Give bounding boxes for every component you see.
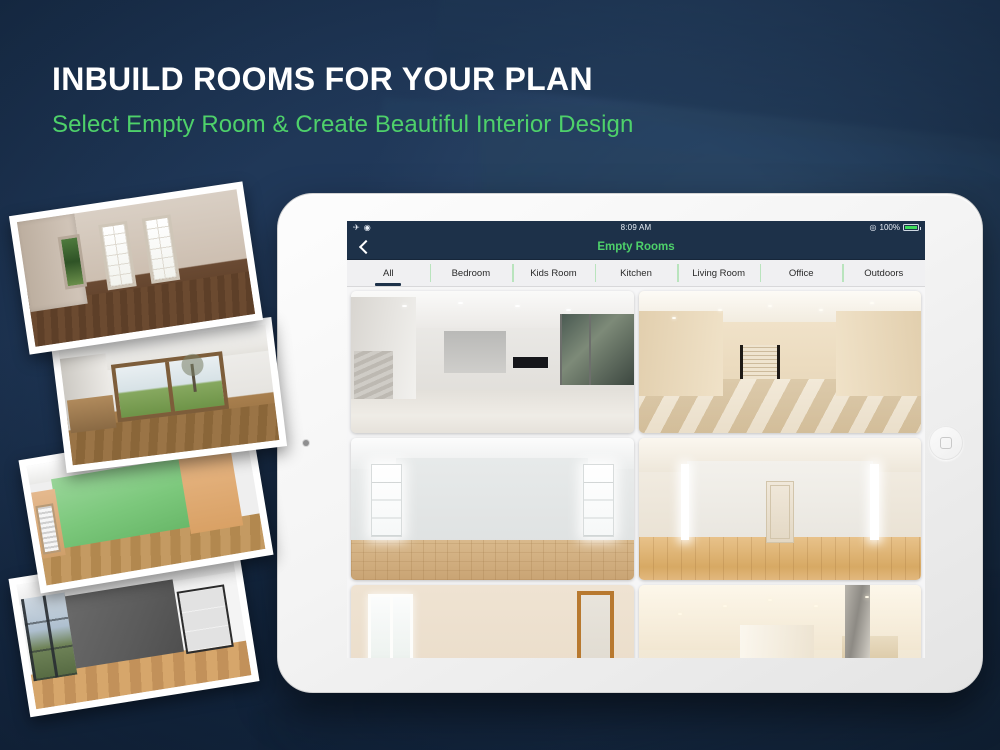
room-photo [17,189,255,346]
room-card-cream-window-door[interactable] [351,585,634,658]
window-wall [560,314,633,385]
navigation-bar: Empty Rooms [347,234,925,260]
tab-all[interactable]: All [347,260,430,286]
tab-office[interactable]: Office [760,260,843,286]
back-button[interactable] [355,238,373,256]
battery-icon [903,224,919,231]
status-bar: ✈ ◉ 8:09 AM ◎ 100% [347,221,925,234]
center-wall [740,625,813,658]
tab-outdoors[interactable]: Outdoors [842,260,925,286]
rotation-lock-icon: ◎ [870,223,877,232]
hallway-alcove [444,331,506,374]
window [368,594,413,658]
room-grid[interactable] [347,287,925,658]
front-camera-icon [303,440,309,446]
status-bar-time: 8:09 AM [347,223,925,232]
page-subtitle: Select Empty Room & Create Beautiful Int… [52,111,633,139]
tab-bedroom[interactable]: Bedroom [430,260,513,286]
room-card-white-side-windows[interactable] [351,438,634,580]
device-screen: ✈ ◉ 8:09 AM ◎ 100% Empty Rooms All Bedro… [347,221,925,658]
wooden-door [577,591,614,658]
staircase [740,345,780,379]
promo-headings: INBUILD ROOMS FOR YOUR PLAN Select Empty… [52,62,633,139]
right-wall [836,311,921,396]
room-photo [59,325,280,465]
window [142,214,180,283]
tab-kids-room[interactable]: Kids Room [512,260,595,286]
room-card-beige-marble-staircase[interactable] [639,291,922,433]
fireplace [512,356,549,369]
room-card-white-center-door[interactable] [639,438,922,580]
handrail [740,345,743,379]
staircase [354,351,394,399]
left-wall [639,311,724,396]
glass-door [176,584,233,654]
window-right [583,464,614,538]
light-gap-right [870,464,878,541]
tablet-device: ✈ ◉ 8:09 AM ◎ 100% Empty Rooms All Bedro… [277,193,983,693]
room-card-modern-white-fireplace[interactable] [351,291,634,433]
home-button[interactable] [929,426,963,460]
back-wall [396,458,588,546]
room-card-kitchen-range-hood[interactable] [639,585,922,658]
tab-kitchen[interactable]: Kitchen [595,260,678,286]
wood-floor [639,537,922,580]
status-bar-right: ◎ 100% [870,223,919,232]
parquet-floor [351,540,634,580]
light-gap-left [681,464,689,541]
window-left [371,464,402,538]
page-title: INBUILD ROOMS FOR YOUR PLAN [52,62,633,97]
battery-percent-label: 100% [880,223,900,232]
tab-living-room[interactable]: Living Room [677,260,760,286]
home-square-icon [940,437,952,449]
category-tab-bar: All Bedroom Kids Room Kitchen Living Roo… [347,260,925,287]
screen-title: Empty Rooms [347,241,925,253]
door [766,481,794,543]
handrail [777,345,780,379]
cabinet [67,395,116,433]
window [98,221,136,290]
